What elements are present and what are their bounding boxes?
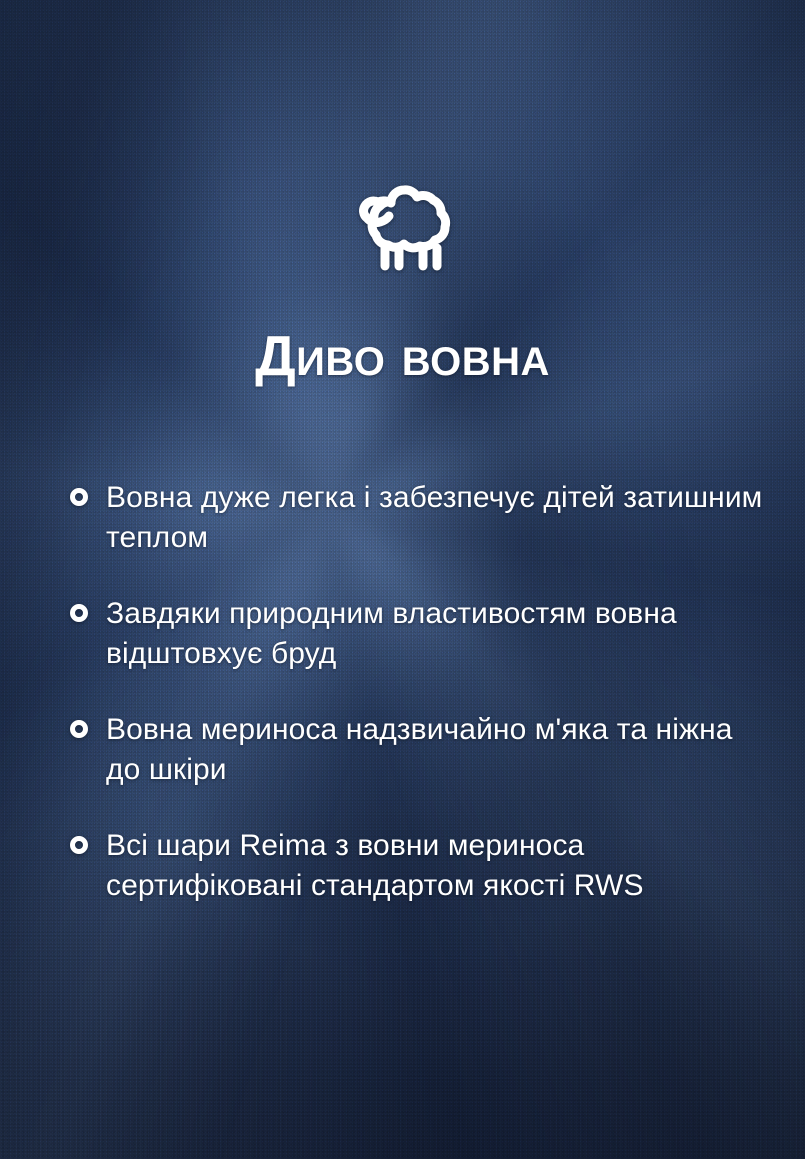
- page-title: Диво вовна: [0, 324, 805, 388]
- poster-content: Диво вовна Вовна дуже легка і забезпечує…: [0, 0, 805, 1159]
- list-item: Вовна мериноса надзвичайно м'яка та ніжн…: [70, 710, 765, 790]
- list-item: Вовна дуже легка і забезпечує дітей зати…: [70, 478, 765, 558]
- sheep-icon: [0, 178, 805, 274]
- ring-bullet-icon: [70, 720, 88, 738]
- wool-promo-poster: Диво вовна Вовна дуже легка і забезпечує…: [0, 0, 805, 1159]
- ring-bullet-icon: [70, 836, 88, 854]
- benefit-text-merino-softness: Вовна мериноса надзвичайно м'яка та ніжн…: [106, 710, 765, 790]
- benefit-text-lightweight-warmth: Вовна дуже легка і забезпечує дітей зати…: [106, 478, 765, 558]
- ring-bullet-icon: [70, 488, 88, 506]
- benefits-list: Вовна дуже легка і забезпечує дітей зати…: [70, 478, 765, 906]
- list-item: Всі шари Reima з вовни мериноса сертифік…: [70, 826, 765, 906]
- benefit-text-dirt-repellent: Завдяки природним властивостям вовна від…: [106, 594, 765, 674]
- list-item: Завдяки природним властивостям вовна від…: [70, 594, 765, 674]
- benefit-text-rws-certified: Всі шари Reima з вовни мериноса сертифік…: [106, 826, 765, 906]
- ring-bullet-icon: [70, 604, 88, 622]
